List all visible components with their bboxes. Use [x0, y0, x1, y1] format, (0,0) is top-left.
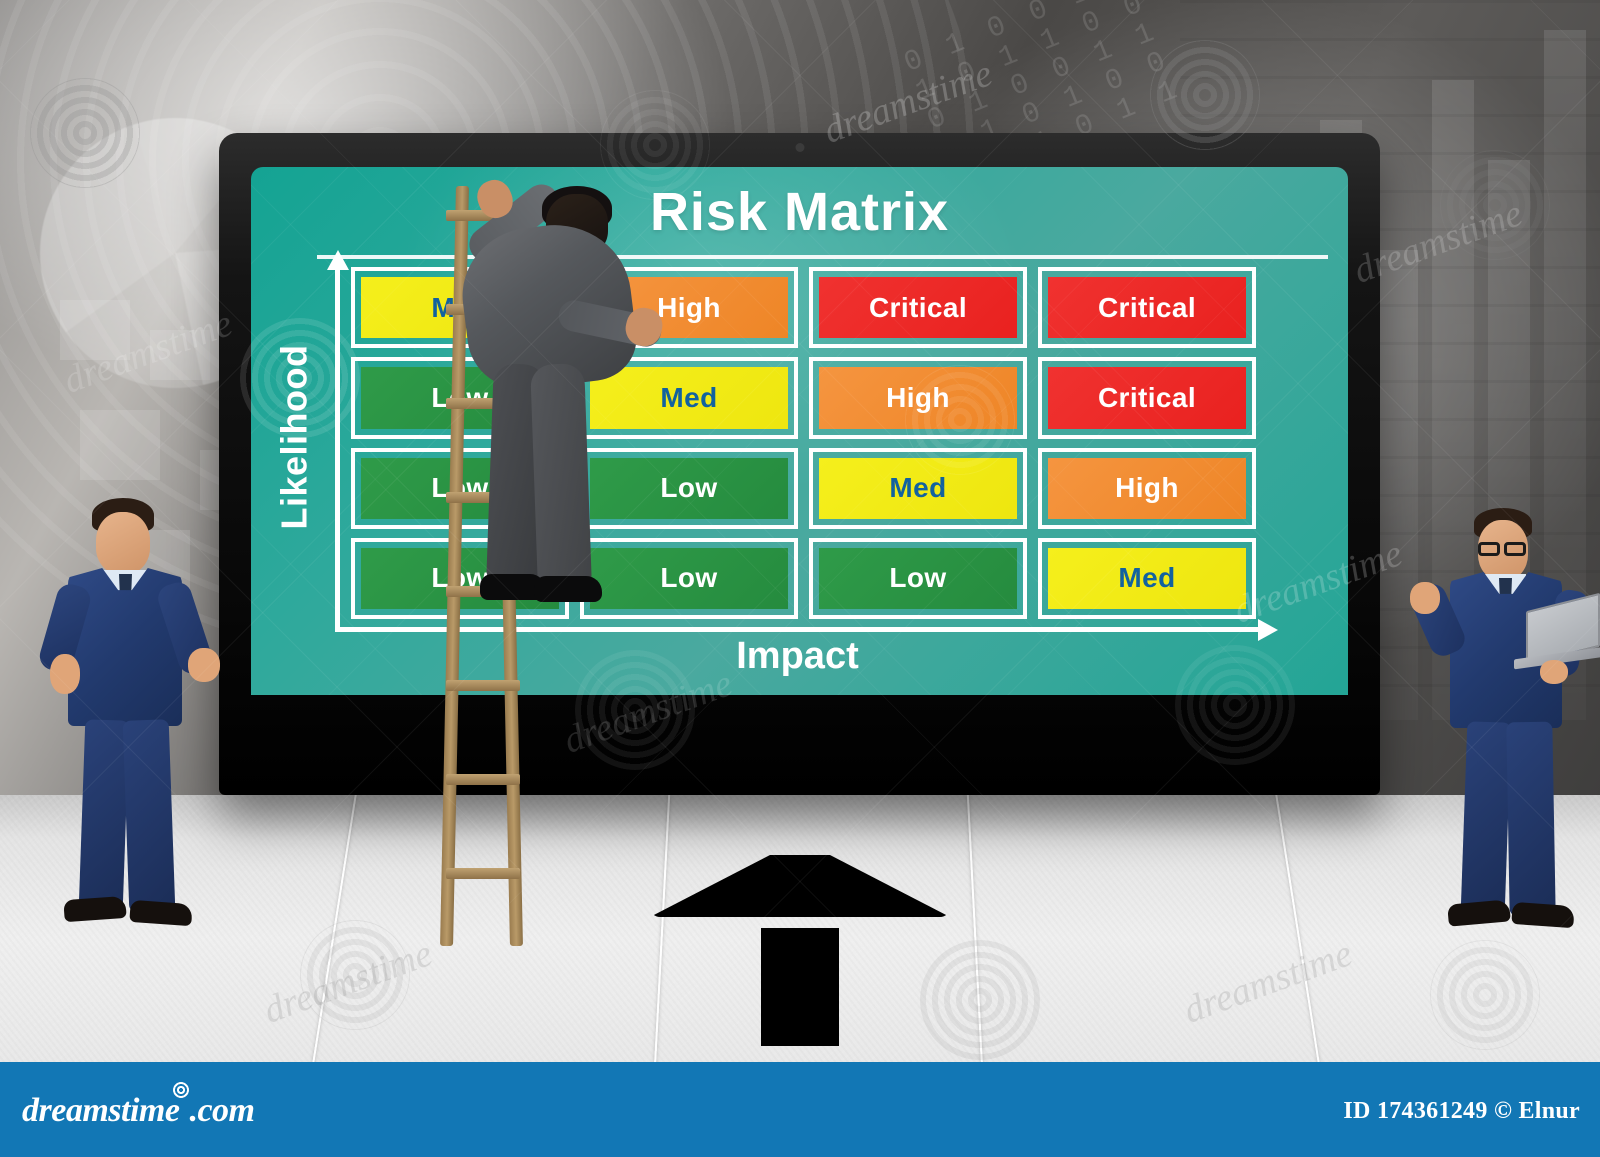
- right-businessman-shoe-right: [1511, 902, 1574, 928]
- likelihood-axis-label-text: Likelihood: [273, 345, 315, 530]
- climbing-businessman: [430, 178, 660, 608]
- monitor-screen: Risk Matrix Likelihood Impact Med High C…: [251, 167, 1348, 695]
- matrix-cell-label: Med: [1048, 548, 1246, 609]
- left-businessman-leg-right: [123, 719, 176, 912]
- left-businessman-head: [96, 512, 150, 574]
- matrix-cell-label: High: [819, 367, 1017, 428]
- ladder-rung: [446, 680, 520, 691]
- matrix-cell-label: Med: [819, 458, 1017, 519]
- matrix-cell-label: High: [1048, 458, 1246, 519]
- matrix-cell-r0c2[interactable]: Critical: [809, 267, 1027, 348]
- matrix-cell-r3c2[interactable]: Low: [809, 538, 1027, 619]
- ladder-rung: [446, 774, 520, 785]
- matrix-cell-label: Low: [819, 548, 1017, 609]
- climbing-businessman-shoe-right: [534, 576, 602, 602]
- left-businessman-hand-open: [188, 648, 220, 682]
- climbing-businessman-leg-right: [530, 363, 592, 587]
- left-businessman-leg-left: [79, 719, 130, 910]
- monitor-neck: [761, 928, 839, 1046]
- matrix-cell-label: Critical: [1048, 277, 1246, 338]
- likelihood-axis-label: Likelihood: [263, 277, 325, 597]
- matrix-cell-r3c3[interactable]: Med: [1038, 538, 1256, 619]
- left-businessman: [30, 498, 245, 930]
- right-businessman-glasses: [1478, 542, 1500, 556]
- likelihood-axis-arrow-icon: [335, 267, 340, 632]
- left-businessman-shoe-right: [129, 900, 192, 926]
- matrix-cell-r2c3[interactable]: High: [1038, 448, 1256, 529]
- right-businessman-shoe-left: [1447, 899, 1511, 926]
- image-id-text: ID 174361249 © Elnur: [1343, 1098, 1580, 1125]
- matrix-cell-r2c2[interactable]: Med: [809, 448, 1027, 529]
- right-businessman-leg-left: [1461, 721, 1512, 914]
- right-businessman: [1408, 508, 1600, 930]
- spiral-icon: [173, 1082, 189, 1098]
- matrix-cell-label: Critical: [1048, 367, 1246, 428]
- left-businessman-shoe-left: [63, 896, 126, 922]
- matrix-cell-label: Critical: [819, 277, 1017, 338]
- dreamstime-logo-text: dreamstime: [22, 1092, 179, 1129]
- footer-bar: dreamstime.com ID 174361249 © Elnur: [0, 1062, 1600, 1157]
- matrix-cell-r1c3[interactable]: Critical: [1038, 357, 1256, 438]
- page-title: Risk Matrix: [251, 181, 1348, 243]
- right-businessman-glasses: [1504, 542, 1526, 556]
- webcam-icon: [795, 143, 804, 152]
- left-businessman-thumbs-up-hand: [50, 654, 80, 694]
- scene: 0 1 0 0 1 0 1 0 1 1 0 0 0 1 0 0 1 1 1 1 …: [0, 0, 1600, 1157]
- right-businessman-hand-holding-laptop: [1540, 660, 1568, 684]
- right-businessman-hand-open: [1410, 582, 1440, 614]
- matrix-cell-r1c2[interactable]: High: [809, 357, 1027, 438]
- dreamstime-logo: dreamstime.com: [22, 1092, 254, 1130]
- right-businessman-leg-right: [1506, 722, 1555, 917]
- matrix-cell-r0c3[interactable]: Critical: [1038, 267, 1256, 348]
- monitor: Risk Matrix Likelihood Impact Med High C…: [219, 133, 1380, 795]
- dreamstime-logo-suffix: .com: [189, 1092, 254, 1129]
- ladder-rung: [446, 868, 520, 879]
